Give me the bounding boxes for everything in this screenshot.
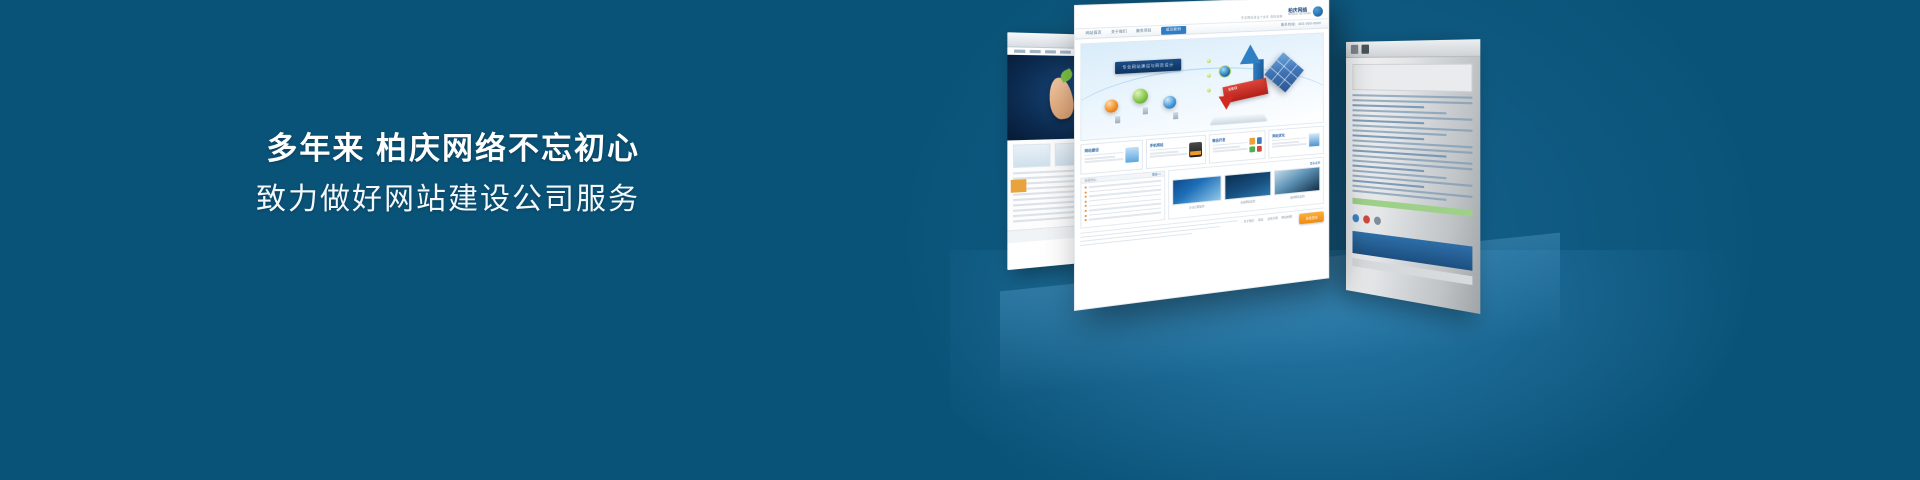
- mockup-panel-right: [1346, 39, 1480, 314]
- site-logo: 柏庆网络 BAIQING NETWORK: [1288, 6, 1323, 18]
- work-thumbnail-image: [1274, 166, 1320, 195]
- toolbar-icon: [1362, 45, 1369, 54]
- footer-link[interactable]: 网站地图: [1282, 214, 1292, 219]
- feature-card[interactable]: 手机网站: [1146, 135, 1206, 169]
- logo-subtext: BAIQING NETWORK: [1288, 13, 1311, 16]
- feature-card[interactable]: 网站建设: [1080, 139, 1142, 174]
- globe-stand: [1173, 112, 1178, 119]
- center-panel-reflection: [1075, 277, 1328, 311]
- seed-illustration: [1047, 76, 1076, 121]
- footer-link[interactable]: 关于我们: [1244, 218, 1255, 223]
- website-mockup-stage: 专注网站建设十余年 值得信赖 柏庆网络 BAIQING NETWORK 网站首页…: [1010, 0, 1530, 420]
- feature-card[interactable]: 微信开发: [1208, 130, 1265, 164]
- left-nav-item: [1014, 50, 1025, 53]
- nav-item-cases[interactable]: 成功案例: [1161, 25, 1186, 34]
- work-thumbnail-image: [1224, 171, 1271, 201]
- news-panel-title: 新闻中心: [1085, 177, 1097, 182]
- left-nav-item: [1045, 50, 1056, 53]
- left-thumb: [1013, 143, 1050, 168]
- headline-line-2: 致力做好网站建设公司服务: [0, 180, 640, 221]
- left-nav-item: [1060, 50, 1071, 53]
- nav-item-about[interactable]: 关于我们: [1111, 29, 1127, 35]
- footer-link[interactable]: 法律声明: [1267, 216, 1278, 221]
- work-thumbnail[interactable]: 品牌网站案例: [1274, 166, 1320, 201]
- globe-stand: [1115, 116, 1120, 123]
- right-browser-chrome: [1346, 39, 1480, 58]
- footer-link-row: 关于我们 联系 法律声明 网站地图: [1244, 214, 1292, 223]
- arrow-down-icon: [1219, 96, 1234, 111]
- news-more-link[interactable]: 更多>>: [1152, 172, 1161, 177]
- right-logo-block: [1352, 64, 1472, 93]
- feature-card[interactable]: 网站优化: [1269, 126, 1324, 159]
- screen-icon: [1308, 132, 1320, 147]
- online-consult-button[interactable]: 在线咨询: [1299, 211, 1323, 224]
- right-panel-reflection: [1346, 290, 1480, 314]
- left-nav-item: [1030, 50, 1041, 53]
- center-hero-banner: 专业网站建设与网页设计 SEO: [1080, 32, 1323, 141]
- headline-block: 多年来 柏庆网络不忘初心 致力做好网站建设公司服务: [0, 128, 840, 220]
- dot-icon: [1363, 215, 1370, 224]
- headline-line-1: 多年来 柏庆网络不忘初心: [0, 128, 640, 170]
- work-thumbnail-image: [1172, 175, 1221, 205]
- document-icon: [1125, 147, 1138, 163]
- logo-mark-icon: [1313, 6, 1323, 17]
- dot-icon: [1207, 59, 1211, 63]
- works-more-link[interactable]: 更多案例: [1310, 161, 1320, 166]
- nav-item-home[interactable]: 网站首页: [1086, 30, 1102, 36]
- work-thumbnail[interactable]: 企业官网案例: [1172, 175, 1221, 211]
- left-badge: [1011, 179, 1027, 193]
- arrow-up-icon: [1240, 43, 1261, 63]
- news-panel: 新闻中心 更多>>: [1080, 170, 1165, 228]
- globe-stand: [1143, 107, 1148, 114]
- right-text-lines: [1346, 94, 1480, 204]
- dot-icon: [1207, 88, 1211, 92]
- toolbar-icon: [1351, 45, 1358, 54]
- nav-hotline: 服务热线：400-000-0000: [1281, 21, 1321, 27]
- mockup-panel-center: 专注网站建设十余年 值得信赖 柏庆网络 BAIQING NETWORK 网站首页…: [1074, 0, 1329, 311]
- hero-banner: 多年来 柏庆网络不忘初心 致力做好网站建设公司服务: [0, 0, 1920, 480]
- grid-icon: [1250, 137, 1262, 152]
- dot-icon: [1207, 73, 1211, 77]
- phone-icon: [1189, 142, 1202, 158]
- work-thumbnail[interactable]: 商城网站案例: [1224, 171, 1271, 206]
- nav-item-services[interactable]: 服务项目: [1136, 28, 1151, 34]
- site-tagline: 专注网站建设十余年 值得信赖: [1241, 14, 1283, 19]
- dot-icon: [1374, 216, 1381, 225]
- footer-link[interactable]: 联系: [1258, 217, 1263, 221]
- dot-icon: [1352, 214, 1359, 223]
- dot-column: [1207, 59, 1211, 92]
